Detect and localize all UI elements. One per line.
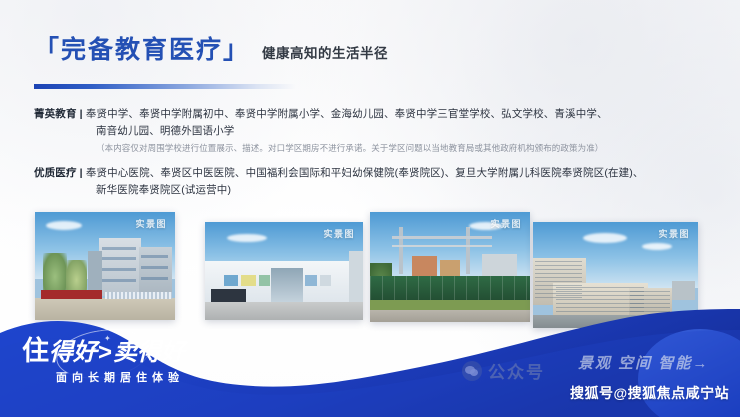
medical-line-2: 新华医院奉贤院区(试运营中) xyxy=(34,182,714,199)
education-label: 菁英教育 | xyxy=(34,108,83,120)
photo-badge: 实景图 xyxy=(135,217,167,230)
gantry-column xyxy=(399,227,403,273)
brand-arrow-icon: → xyxy=(692,355,709,372)
red-signboard xyxy=(41,290,103,300)
copy-spacer xyxy=(34,156,714,165)
sohu-watermark: 搜狐号@搜狐焦点咸宁站 xyxy=(570,383,729,403)
far-building xyxy=(412,256,438,278)
window-band xyxy=(102,268,136,271)
fence xyxy=(105,292,172,300)
wechat-icon xyxy=(462,361,482,381)
far-building xyxy=(482,254,517,278)
gantry-beam xyxy=(392,236,491,239)
window-band xyxy=(141,266,168,269)
window-band xyxy=(102,247,136,250)
green-hoarding xyxy=(370,276,530,300)
medical-list-part-1: 奉贤中心医院、奉贤区中医医院、中国福利会国际和平妇幼保健院(奉贤院区)、复旦大学… xyxy=(83,167,644,179)
color-panel xyxy=(241,275,255,286)
slogan-arrow-icon: > xyxy=(98,339,112,366)
window-band xyxy=(141,277,168,280)
school-campus-photo: 实景图 xyxy=(35,212,175,320)
slogan-main-line: 住得好>卖得好 xyxy=(22,338,185,365)
window-band xyxy=(102,257,136,260)
section-header: 「完备教育医疗」 健康高知的生活半径 xyxy=(34,38,388,63)
education-line-2: 南音幼儿园、明德外国语小学 xyxy=(34,123,714,140)
header-divider xyxy=(34,84,296,89)
gantry-column xyxy=(466,227,470,273)
color-panel xyxy=(305,275,318,286)
medical-line-1: 优质医疗 | 奉贤中心医院、奉贤区中医医院、中国福利会国际和平妇幼保健院(奉贤院… xyxy=(34,165,714,182)
dark-entry xyxy=(211,289,246,303)
building-right xyxy=(139,247,173,297)
cloud xyxy=(583,233,627,243)
window-band xyxy=(102,279,136,282)
brand-ghost-text: 景观 空间 智能 xyxy=(578,355,692,372)
white-gate-building-photo: 实景图 xyxy=(205,222,363,320)
education-disclaimer: （本内容仅对周围学校进行位置展示、描述。对口学区期房不进行承诺。关于学区问题以当… xyxy=(34,140,714,156)
photo-badge: 实景图 xyxy=(323,227,355,240)
green-hoarding-wall-photo: 实景图 xyxy=(370,212,530,322)
page-subtitle: 健康高知的生活半径 xyxy=(262,47,388,61)
page-title: 「完备教育医疗」 xyxy=(34,38,250,63)
wechat-label: 公众号 xyxy=(488,358,545,383)
window-band xyxy=(141,255,168,258)
gantry-beam xyxy=(392,245,491,247)
slide-canvas: 「完备教育医疗」 健康高知的生活半径 菁英教育 | 奉贤中学、奉贤中学附属初中、… xyxy=(0,0,740,417)
photo-badge: 实景图 xyxy=(490,217,522,230)
far-building xyxy=(672,281,695,300)
cloud xyxy=(46,221,82,230)
banner-slogan: 住得好>卖得好 面向长期居住体验 xyxy=(22,338,185,384)
cloud xyxy=(227,234,267,242)
slogan-mid: 得好 xyxy=(49,339,97,366)
content-copy: 菁英教育 | 奉贤中学、奉贤中学附属初中、奉贤中学附属小学、金海幼儿园、奉贤中学… xyxy=(34,106,714,199)
slogan-lead: 住 xyxy=(22,336,49,366)
photo-badge: 实景图 xyxy=(658,227,690,240)
slogan-tail: 卖得好 xyxy=(113,339,185,366)
education-line-1: 菁英教育 | 奉贤中学、奉贤中学附属初中、奉贤中学附属小学、金海幼儿园、奉贤中学… xyxy=(34,106,714,123)
color-panel xyxy=(259,275,270,286)
slogan-subline: 面向长期居住体验 xyxy=(56,373,185,384)
medical-label: 优质医疗 | xyxy=(34,167,83,179)
color-panel xyxy=(320,275,331,286)
color-panel xyxy=(224,275,238,286)
education-list-part-1: 奉贤中学、奉贤中学附属初中、奉贤中学附属小学、金海幼儿园、奉贤中学三官堂学校、弘… xyxy=(83,108,608,120)
brand-ghost-watermark: 景观 空间 智能→ xyxy=(578,352,709,373)
side-building xyxy=(349,251,363,302)
wechat-watermark: 公众号 xyxy=(462,358,545,383)
gate-arch xyxy=(271,268,303,302)
